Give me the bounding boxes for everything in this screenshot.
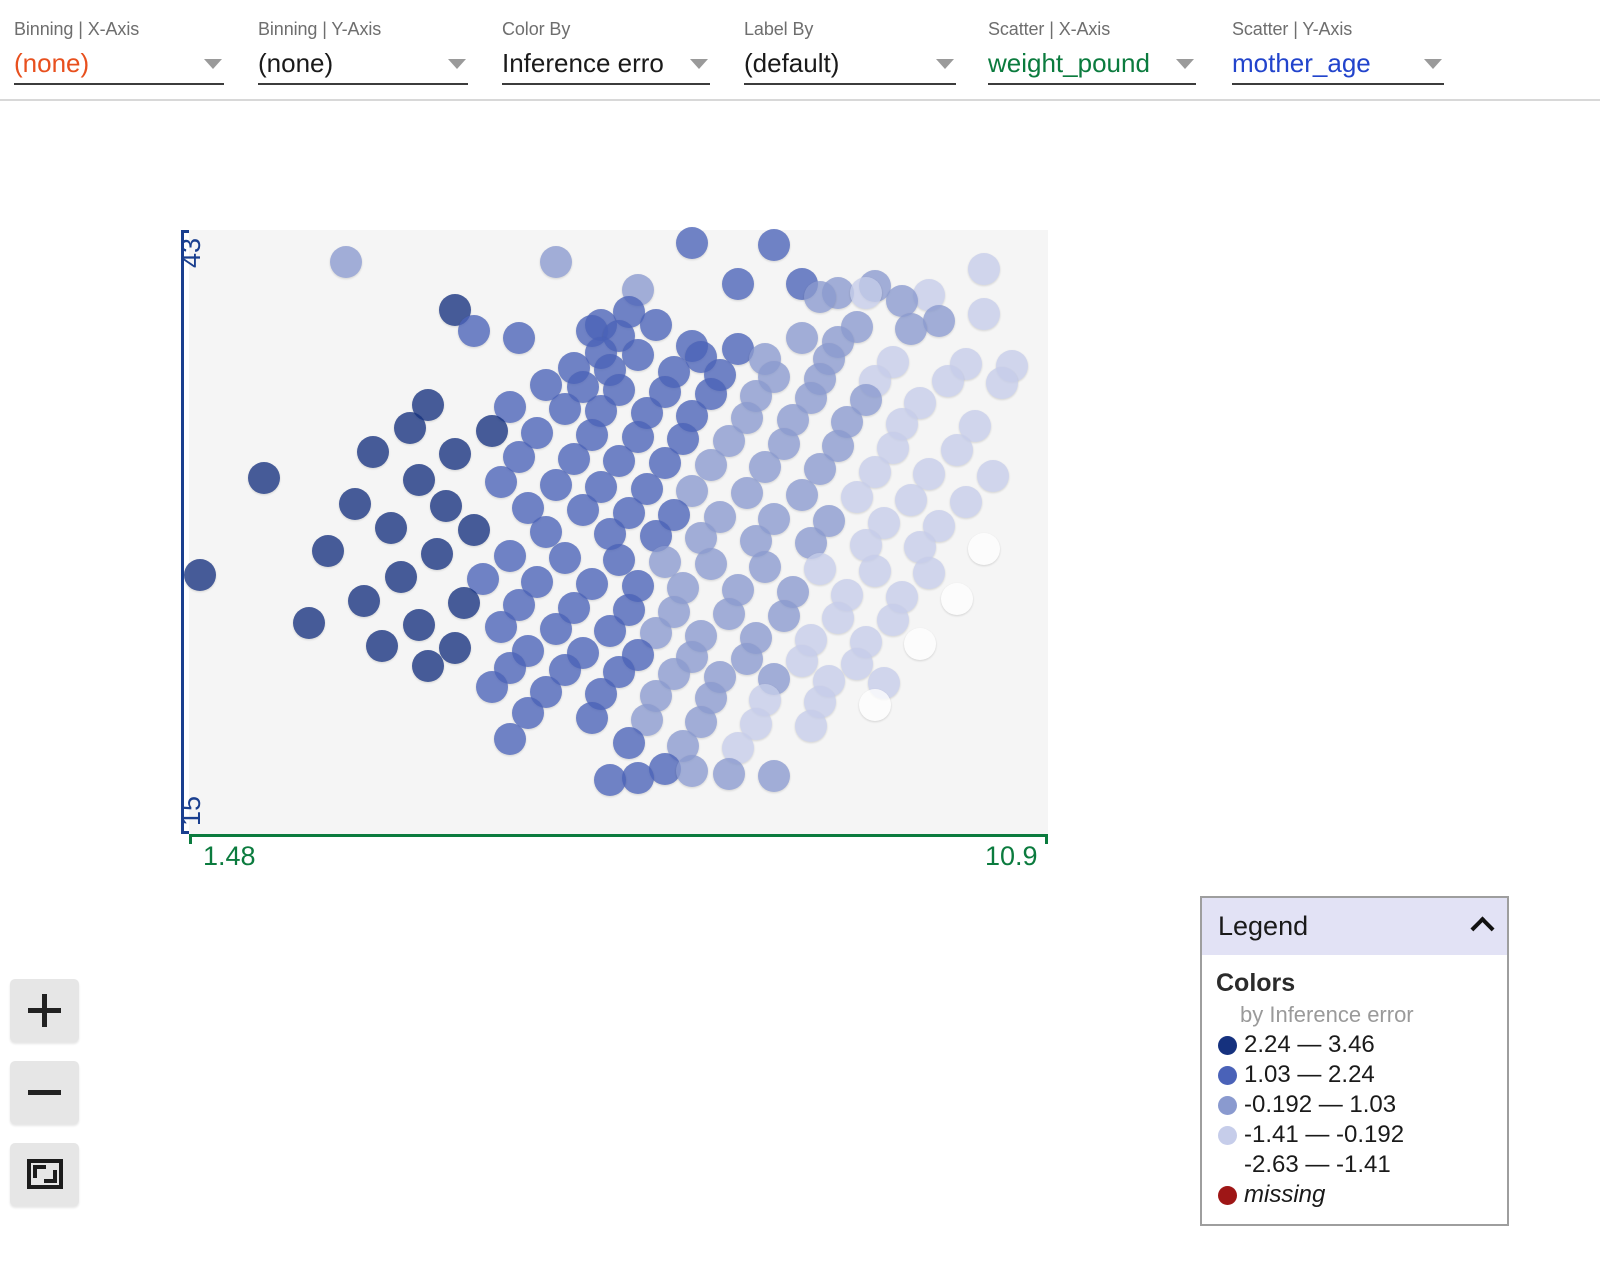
scatter-point[interactable] xyxy=(540,613,572,645)
control-field[interactable]: Inference erro xyxy=(502,46,710,85)
chevron-down-icon[interactable] xyxy=(690,59,708,69)
scatter-point[interactable] xyxy=(403,609,435,641)
scatter-point[interactable] xyxy=(895,313,927,345)
scatter-point[interactable] xyxy=(786,479,818,511)
legend-entry-list: 2.24 — 3.461.03 — 2.24-0.192 — 1.03-1.41… xyxy=(1216,1030,1507,1210)
legend-section-title: Colors xyxy=(1216,967,1507,1000)
control-field[interactable]: (none) xyxy=(14,46,224,85)
legend-color-swatch xyxy=(1218,1036,1237,1055)
scatter-point[interactable] xyxy=(458,514,490,546)
control-binning-x-axis[interactable]: Binning | X-Axis (none) xyxy=(14,18,224,85)
control-label: Color By xyxy=(502,18,710,40)
scatter-point[interactable] xyxy=(822,602,854,634)
scatter-point[interactable] xyxy=(950,486,982,518)
scatter-point[interactable] xyxy=(549,393,581,425)
scatter-point[interactable] xyxy=(375,512,407,544)
legend-subtitle: by Inference error xyxy=(1216,1000,1507,1030)
scatter-point[interactable] xyxy=(758,229,790,261)
scatter-point[interactable] xyxy=(613,727,645,759)
control-field[interactable]: (default) xyxy=(744,46,956,85)
scatter-point[interactable] xyxy=(713,598,745,630)
chevron-down-icon[interactable] xyxy=(448,59,466,69)
control-label: Scatter | X-Axis xyxy=(988,18,1196,40)
legend-entry-label: -2.63 — -1.41 xyxy=(1244,1150,1391,1180)
scatter-point[interactable] xyxy=(640,309,672,341)
scatter-point[interactable] xyxy=(385,561,417,593)
x-axis-max-label: 10.9 xyxy=(985,841,1038,872)
plus-icon-stem xyxy=(42,994,47,1027)
scatter-point[interactable] xyxy=(622,339,654,371)
scatter-point[interactable] xyxy=(330,246,362,278)
minus-icon xyxy=(28,1090,61,1095)
scatter-point[interactable] xyxy=(895,484,927,516)
scatter-point[interactable] xyxy=(941,583,973,615)
chevron-down-icon[interactable] xyxy=(1424,59,1442,69)
scatter-point[interactable] xyxy=(439,632,471,664)
scatter-point[interactable] xyxy=(576,702,608,734)
scatter-point[interactable] xyxy=(676,227,708,259)
legend-entry[interactable]: -2.63 — -1.41 xyxy=(1216,1150,1507,1180)
chevron-up-icon[interactable] xyxy=(1470,916,1494,940)
scatter-point[interactable] xyxy=(904,628,936,660)
control-field[interactable]: mother_age xyxy=(1232,46,1444,85)
zoom-out-button[interactable] xyxy=(10,1061,79,1124)
scatter-point[interactable] xyxy=(594,615,626,647)
scatter-point[interactable] xyxy=(494,723,526,755)
scatter-point[interactable] xyxy=(768,600,800,632)
legend-entry[interactable]: 2.24 — 3.46 xyxy=(1216,1030,1507,1060)
scatter-plot-canvas[interactable] xyxy=(189,230,1048,834)
scatter-point[interactable] xyxy=(795,710,827,742)
scatter-point[interactable] xyxy=(540,469,572,501)
legend-entry-label: -0.192 — 1.03 xyxy=(1244,1090,1396,1120)
legend-panel: Legend Colors by Inference error 2.24 — … xyxy=(1200,896,1509,1226)
scatter-point[interactable] xyxy=(676,755,708,787)
control-scatter-x-axis[interactable]: Scatter | X-Axis weight_pound xyxy=(988,18,1196,85)
control-value: (none) xyxy=(258,46,468,80)
control-value: mother_age xyxy=(1232,46,1444,80)
scatter-point[interactable] xyxy=(804,553,836,585)
legend-color-swatch xyxy=(1218,1186,1237,1205)
control-value: Inference erro xyxy=(502,46,710,80)
scatter-point[interactable] xyxy=(722,268,754,300)
scatter-point[interactable] xyxy=(695,548,727,580)
scatter-point[interactable] xyxy=(540,246,572,278)
scatter-point[interactable] xyxy=(977,460,1009,492)
legend-entry-label: 2.24 — 3.46 xyxy=(1244,1030,1375,1060)
scatter-point[interactable] xyxy=(968,298,1000,330)
scatter-point[interactable] xyxy=(758,760,790,792)
x-axis-min-label: 1.48 xyxy=(203,841,256,872)
control-label-by[interactable]: Label By (default) xyxy=(744,18,956,85)
scatter-point[interactable] xyxy=(594,764,626,796)
zoom-in-button[interactable] xyxy=(10,979,79,1042)
scatter-point[interactable] xyxy=(786,322,818,354)
legend-entry[interactable]: 1.03 — 2.24 xyxy=(1216,1060,1507,1090)
fit-screen-icon xyxy=(27,1159,63,1189)
control-label: Label By xyxy=(744,18,956,40)
scatter-point[interactable] xyxy=(986,367,1018,399)
legend-entry[interactable]: -0.192 — 1.03 xyxy=(1216,1090,1507,1120)
scatter-point[interactable] xyxy=(859,689,891,721)
scatter-point[interactable] xyxy=(786,645,818,677)
chevron-down-icon[interactable] xyxy=(936,59,954,69)
scatter-point[interactable] xyxy=(366,630,398,662)
scatter-point[interactable] xyxy=(458,315,490,347)
scatter-point[interactable] xyxy=(841,648,873,680)
legend-entry-label: -1.41 — -0.192 xyxy=(1244,1120,1404,1150)
legend-entry[interactable]: missing xyxy=(1216,1180,1507,1210)
scatter-point[interactable] xyxy=(494,540,526,572)
scatter-point[interactable] xyxy=(312,535,344,567)
legend-color-swatch xyxy=(1218,1126,1237,1145)
scatter-point[interactable] xyxy=(713,758,745,790)
control-binning-y-axis[interactable]: Binning | Y-Axis (none) xyxy=(258,18,468,85)
scatter-point[interactable] xyxy=(421,538,453,570)
scatter-point[interactable] xyxy=(357,436,389,468)
control-label: Binning | Y-Axis xyxy=(258,18,468,40)
fit-to-view-button[interactable] xyxy=(10,1143,79,1206)
scatter-point[interactable] xyxy=(731,477,763,509)
scatter-point[interactable] xyxy=(412,650,444,682)
legend-body: Colors by Inference error 2.24 — 3.461.0… xyxy=(1202,955,1507,1224)
scatter-point[interactable] xyxy=(439,438,471,470)
scatter-point[interactable] xyxy=(731,643,763,675)
scatter-point[interactable] xyxy=(448,587,480,619)
scatter-point[interactable] xyxy=(339,488,371,520)
legend-color-swatch xyxy=(1218,1156,1237,1175)
scatter-point[interactable] xyxy=(403,464,435,496)
legend-color-swatch xyxy=(1218,1066,1237,1085)
scatter-point[interactable] xyxy=(941,434,973,466)
control-label: Scatter | Y-Axis xyxy=(1232,18,1444,40)
scatter-point[interactable] xyxy=(549,542,581,574)
scatter-point[interactable] xyxy=(476,671,508,703)
legend-entry-label: missing xyxy=(1244,1180,1325,1210)
control-label: Binning | X-Axis xyxy=(14,18,224,40)
x-axis-line xyxy=(189,834,1048,844)
legend-header[interactable]: Legend xyxy=(1202,898,1507,955)
scatter-point[interactable] xyxy=(293,607,325,639)
control-value: (none) xyxy=(14,46,224,80)
scatter-point[interactable] xyxy=(859,555,891,587)
chevron-down-icon[interactable] xyxy=(204,59,222,69)
y-axis-min-label: 15 xyxy=(176,796,207,826)
control-color-by[interactable]: Color By Inference erro xyxy=(502,18,710,85)
legend-title: Legend xyxy=(1218,911,1308,942)
scatter-point[interactable] xyxy=(968,253,1000,285)
scatter-point[interactable] xyxy=(749,551,781,583)
scatter-point[interactable] xyxy=(567,494,599,526)
control-value: (default) xyxy=(744,46,956,80)
legend-entry[interactable]: -1.41 — -0.192 xyxy=(1216,1120,1507,1150)
control-field[interactable]: (none) xyxy=(258,46,468,85)
y-axis-max-label: 43 xyxy=(176,238,207,268)
scatter-point[interactable] xyxy=(430,490,462,522)
scatter-point[interactable] xyxy=(850,277,882,309)
y-axis-line xyxy=(181,230,189,834)
scatter-point[interactable] xyxy=(476,415,508,447)
scatter-point[interactable] xyxy=(485,611,517,643)
zoom-controls xyxy=(10,979,79,1225)
scatter-point[interactable] xyxy=(932,365,964,397)
scatter-point[interactable] xyxy=(394,412,426,444)
scatter-point[interactable] xyxy=(485,466,517,498)
scatter-point[interactable] xyxy=(348,585,380,617)
scatter-point[interactable] xyxy=(913,557,945,589)
scatter-point[interactable] xyxy=(841,481,873,513)
control-field[interactable]: weight_pound xyxy=(988,46,1196,85)
control-scatter-y-axis[interactable]: Scatter | Y-Axis mother_age xyxy=(1232,18,1444,85)
scatter-point[interactable] xyxy=(622,762,654,794)
scatter-point[interactable] xyxy=(923,305,955,337)
scatter-point[interactable] xyxy=(968,533,1000,565)
scatter-point[interactable] xyxy=(877,604,909,636)
top-toolbar: Binning | X-Axis (none) Binning | Y-Axis… xyxy=(0,0,1600,101)
legend-color-swatch xyxy=(1218,1096,1237,1115)
chevron-down-icon[interactable] xyxy=(1176,59,1194,69)
scatter-point[interactable] xyxy=(248,462,280,494)
scatter-point[interactable] xyxy=(804,281,836,313)
control-value: weight_pound xyxy=(988,46,1196,80)
legend-entry-label: 1.03 — 2.24 xyxy=(1244,1060,1375,1090)
scatter-point[interactable] xyxy=(503,322,535,354)
